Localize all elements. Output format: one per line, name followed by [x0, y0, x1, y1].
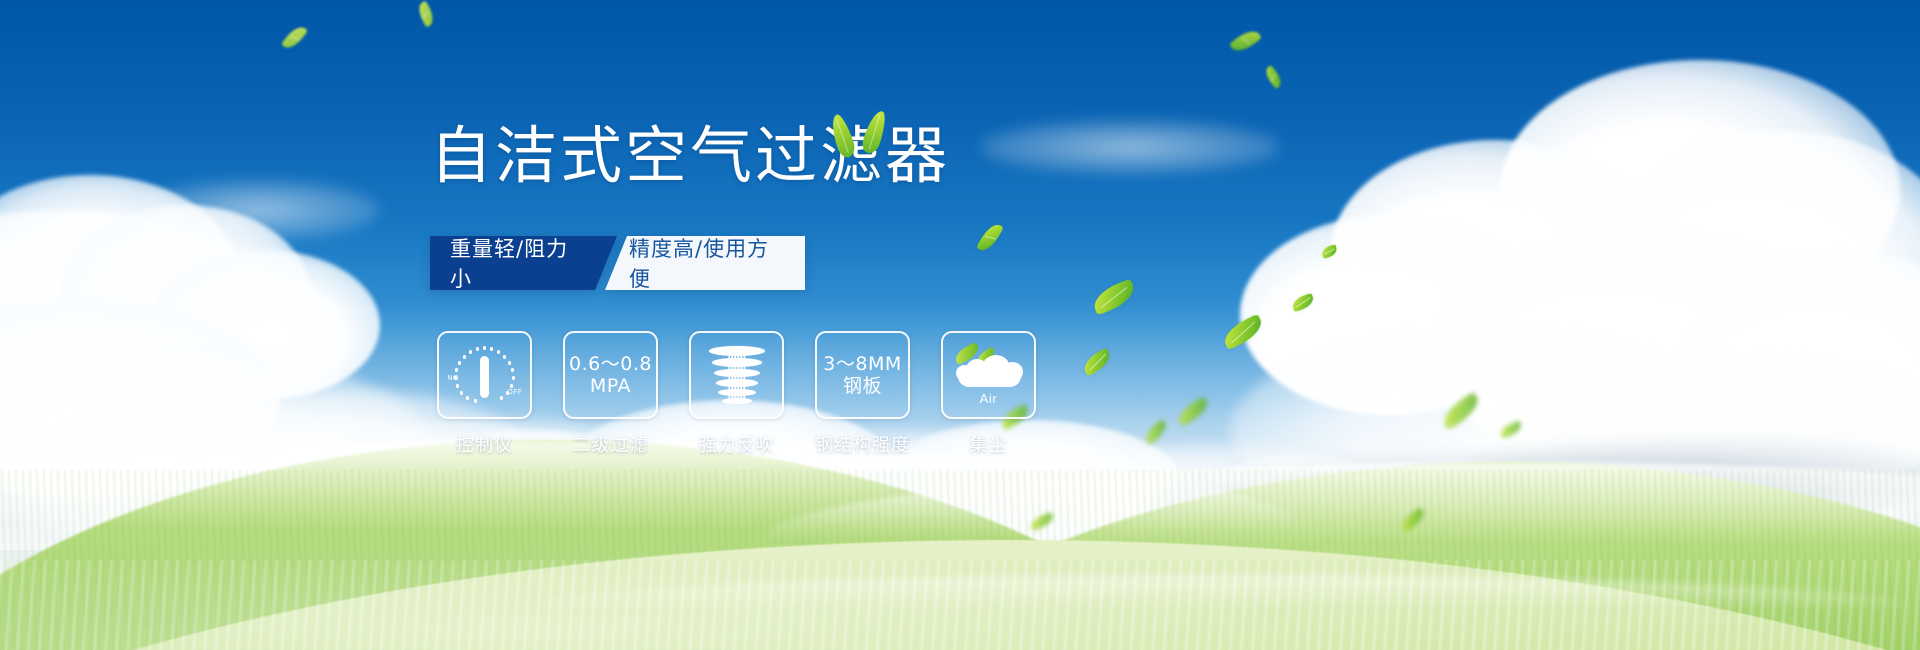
badge-weight-resistance[interactable]: 重量轻/阻力小	[430, 236, 617, 290]
feature-icon-box: 3～8MM 钢板	[815, 331, 910, 419]
hero-banner: 自洁式空气过滤器 重量轻/阻力小 精度高/使用方便	[0, 0, 1920, 650]
steel-plate-icon: 3～8MM 钢板	[823, 353, 901, 398]
badge-precision-ease[interactable]: 精度高/使用方便	[605, 236, 805, 290]
feature-label: 钢结构强度	[815, 431, 910, 457]
feature-icon-box	[689, 331, 784, 419]
feature-text-line1: 0.6～0.8	[569, 353, 652, 375]
leaf-icon	[827, 112, 857, 159]
feature-item-controller[interactable]: NO OFF 控制仪	[437, 331, 532, 457]
filter-stack-icon	[707, 344, 767, 406]
leaf-icon	[860, 108, 889, 155]
gauge-dial-icon: NO OFF	[449, 342, 521, 408]
tagline-badges: 重量轻/阻力小 精度高/使用方便	[430, 236, 805, 290]
feature-item-steel-strength[interactable]: 3～8MM 钢板 钢结构强度	[815, 331, 910, 457]
gauge-label-max: OFF	[507, 389, 522, 396]
feature-text-line2: 钢板	[823, 375, 901, 397]
feature-icon-row: NO OFF 控制仪 0.6～0.8 MPA 二级过滤	[437, 331, 1036, 457]
grass-sheen	[0, 500, 1920, 650]
feature-icon-box: Air	[941, 331, 1036, 419]
air-text-label: Air	[952, 391, 1026, 406]
gauge-needle	[480, 356, 489, 398]
badge-label: 重量轻/阻力小	[450, 233, 589, 293]
feature-label: 二级过滤	[563, 431, 658, 457]
cloud-wisp	[980, 120, 1280, 174]
badge-label: 精度高/使用方便	[629, 233, 785, 293]
feature-icon-box: 0.6～0.8 MPA	[563, 331, 658, 419]
feature-label: 控制仪	[437, 431, 532, 457]
feature-label: 强力反吹	[689, 431, 784, 457]
feature-icon-box: NO OFF	[437, 331, 532, 419]
feature-text-line1: 3～8MM	[823, 353, 901, 375]
feature-item-dust-collection[interactable]: Air 集尘	[941, 331, 1036, 457]
feature-text-line2: MPA	[569, 375, 652, 397]
cloud-air-icon: Air	[952, 347, 1026, 403]
feature-item-two-stage-filter[interactable]: 0.6～0.8 MPA 二级过滤	[563, 331, 658, 457]
title-leaves-decoration	[828, 104, 898, 160]
pressure-text-icon: 0.6～0.8 MPA	[569, 353, 652, 398]
feature-item-strong-blowback[interactable]: 强力反吹	[689, 331, 784, 457]
gauge-label-min: NO	[448, 375, 459, 382]
feature-label: 集尘	[941, 431, 1036, 457]
